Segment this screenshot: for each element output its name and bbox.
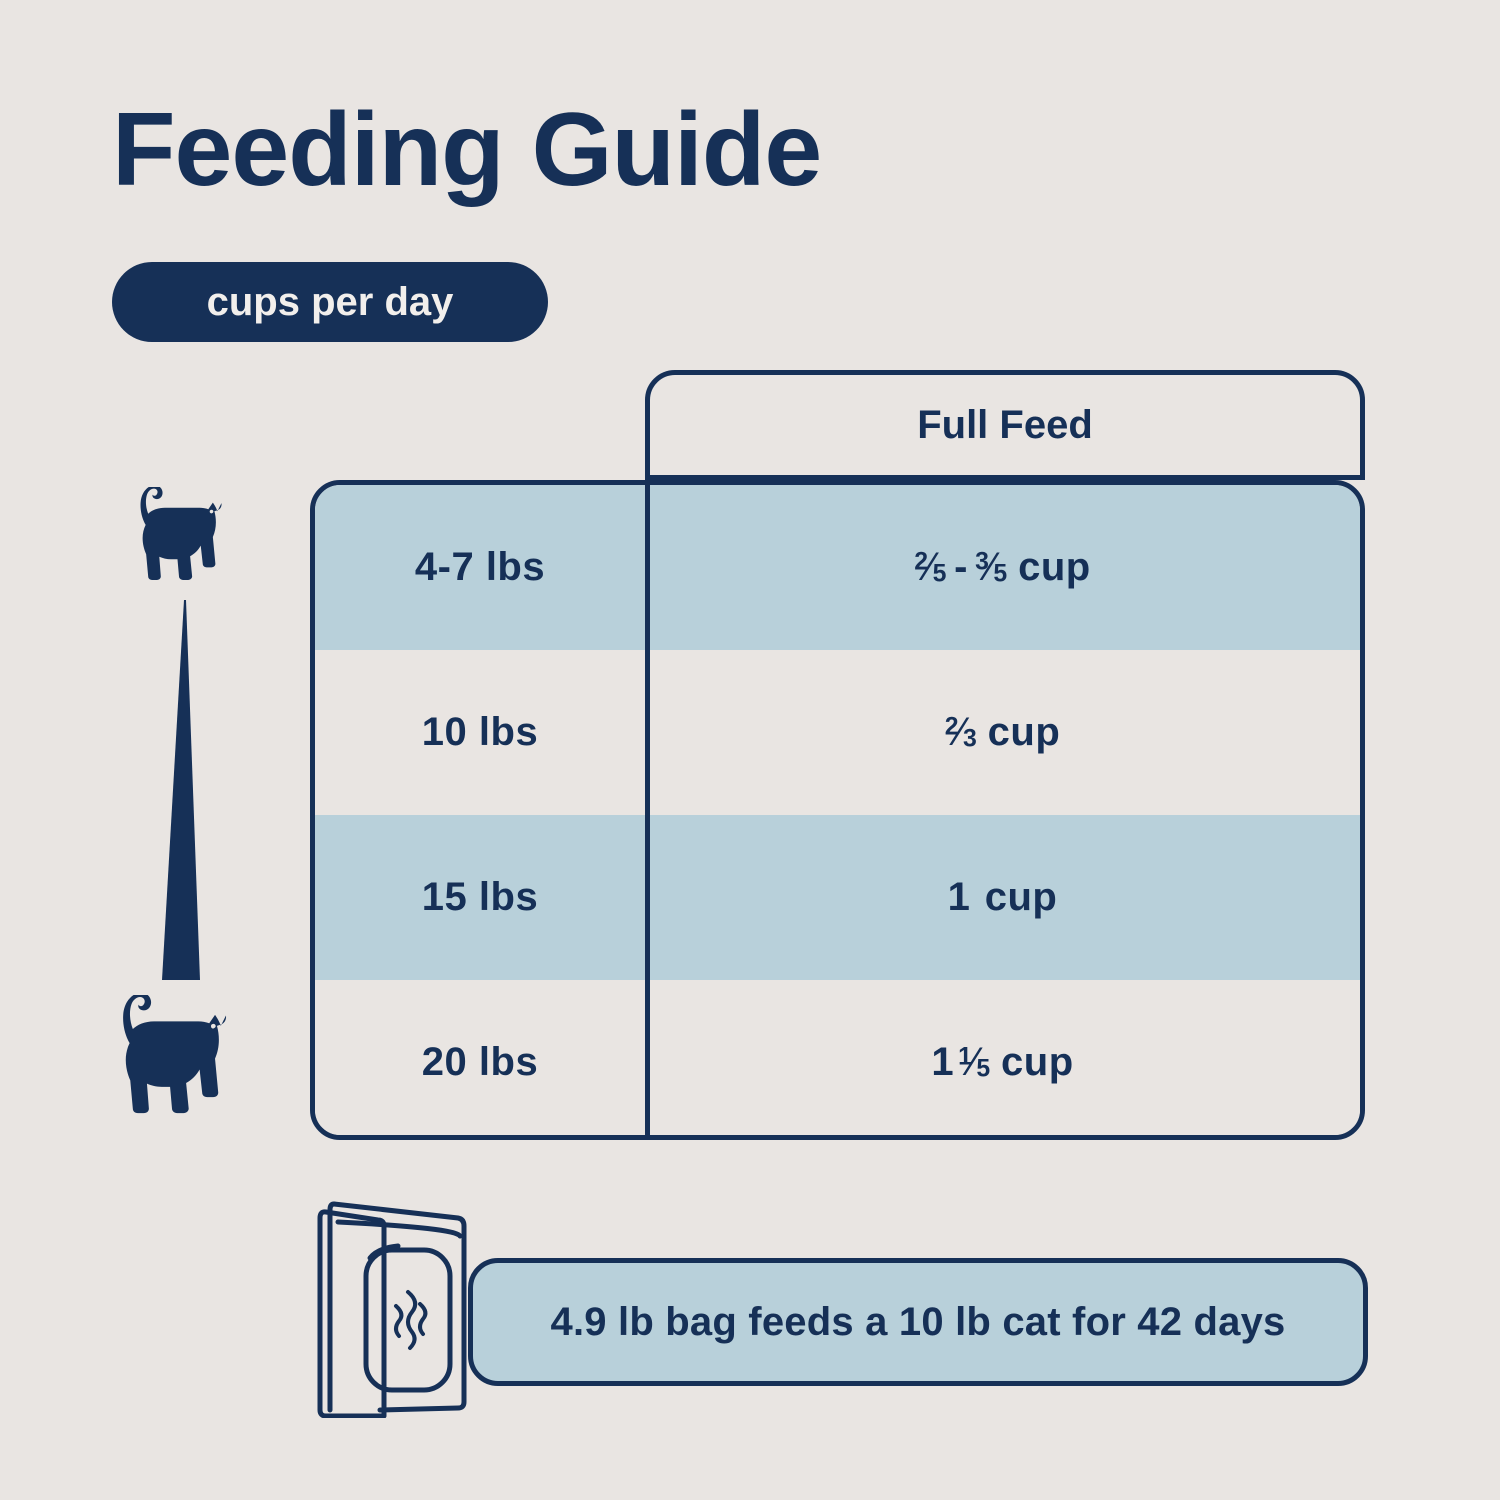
column-divider: [645, 485, 650, 1135]
amount-label: 2⁄3cup: [945, 710, 1061, 755]
unit-label: cup: [1018, 545, 1091, 589]
whole-number: 1: [948, 875, 971, 919]
cups-per-day-label: cups per day: [207, 280, 454, 325]
fraction: 1⁄5: [958, 1040, 991, 1085]
amount-cell: 2⁄3cup: [645, 650, 1360, 815]
weight-label: 10 lbs: [422, 710, 538, 755]
fraction-high: 3⁄5: [975, 545, 1008, 590]
weight-cell: 20 lbs: [315, 980, 645, 1140]
cups-per-day-pill: cups per day: [112, 262, 548, 342]
amount-label: 2⁄5-3⁄5cup: [914, 545, 1090, 590]
table-row: 4-7 lbs 2⁄5-3⁄5cup: [315, 485, 1360, 650]
page-title: Feeding Guide: [112, 96, 821, 205]
unit-label: cup: [985, 875, 1058, 919]
column-header-label: Full Feed: [917, 403, 1093, 448]
weight-label: 4-7 lbs: [415, 545, 545, 590]
weight-cell: 4-7 lbs: [315, 485, 645, 650]
weight-cell: 15 lbs: [315, 815, 645, 980]
amount-label: 11⁄5cup: [931, 1040, 1073, 1085]
unit-label: cup: [988, 710, 1061, 754]
amount-cell: 11⁄5cup: [645, 980, 1360, 1140]
feeding-guide-infographic: Feeding Guide cups per day Full Feed 4-7…: [0, 0, 1500, 1500]
amount-label: 1cup: [948, 875, 1058, 920]
fraction: 2⁄3: [945, 710, 978, 755]
cat-walking-icon-large: [82, 995, 262, 1117]
fraction-low: 2⁄5: [914, 545, 947, 590]
feeding-table: 4-7 lbs 2⁄5-3⁄5cup 10 lbs 2⁄3cup: [310, 480, 1365, 1140]
whole-number: 1: [931, 1040, 954, 1084]
weight-cell: 10 lbs: [315, 650, 645, 815]
table-row: 15 lbs 1cup: [315, 815, 1360, 980]
amount-cell: 2⁄5-3⁄5cup: [645, 485, 1360, 650]
bag-duration-banner: 4.9 lb bag feeds a 10 lb cat for 42 days: [468, 1258, 1368, 1386]
size-scale-wedge-icon: [150, 600, 220, 980]
table-header-full-feed: Full Feed: [645, 370, 1365, 480]
weight-label: 15 lbs: [422, 875, 538, 920]
bag-duration-label: 4.9 lb bag feeds a 10 lb cat for 42 days: [551, 1300, 1286, 1345]
cat-walking-icon-small: [118, 487, 240, 583]
table-row: 20 lbs 11⁄5cup: [315, 980, 1360, 1140]
amount-cell: 1cup: [645, 815, 1360, 980]
unit-label: cup: [1001, 1040, 1074, 1084]
table-row: 10 lbs 2⁄3cup: [315, 650, 1360, 815]
weight-label: 20 lbs: [422, 1040, 538, 1085]
